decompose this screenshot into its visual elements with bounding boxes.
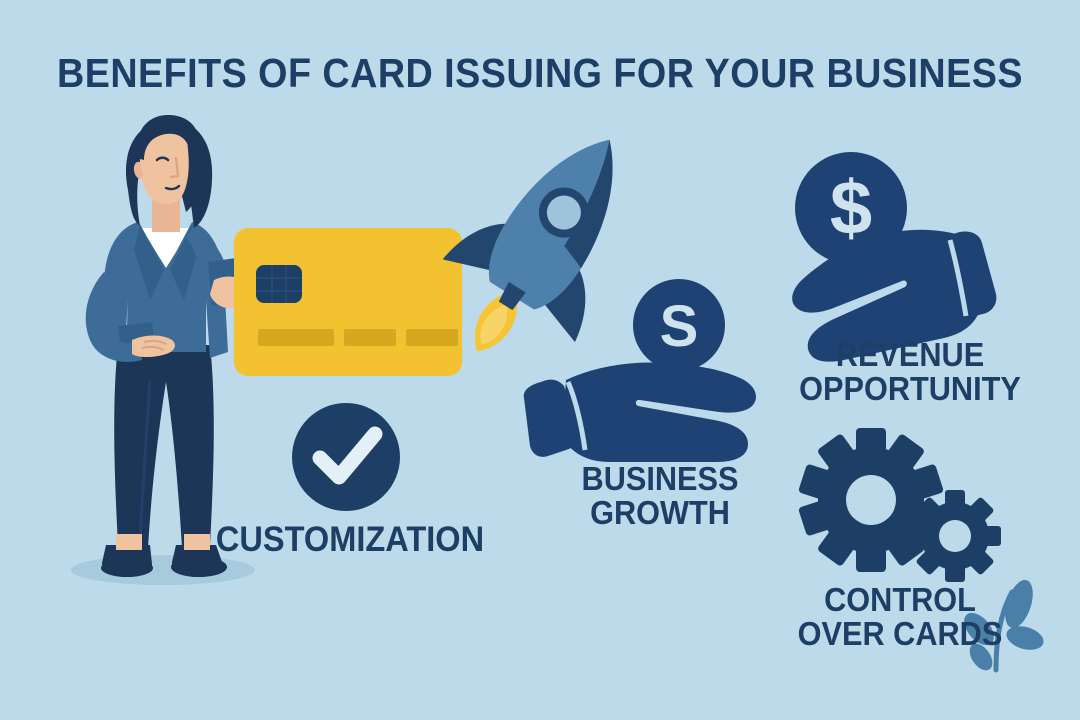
benefit-label-revenue-opportunity: REVENUE OPPORTUNITY <box>771 338 1050 405</box>
floor-shadow <box>71 555 255 585</box>
credit-card-illustration <box>234 228 462 376</box>
woman-trouser-crease <box>140 380 150 542</box>
rocket-flame <box>463 282 529 361</box>
rocket-flame-inner <box>473 299 515 350</box>
rocket-porthole-ring <box>529 178 598 247</box>
woman-hair-front <box>136 115 200 160</box>
gear-large-hole <box>846 475 896 525</box>
benefit-label-customization: CUSTOMIZATION <box>164 522 536 558</box>
woman-shoe-left <box>102 545 152 577</box>
rocket-body <box>475 116 647 319</box>
woman-forearm-right <box>208 258 242 306</box>
rocket-illustration <box>411 98 676 393</box>
benefit-label-line1: REVENUE <box>771 338 1050 372</box>
woman-nose <box>171 158 178 177</box>
hand-holding-dollar-coin-icon: $ <box>792 152 996 362</box>
page-title: BENEFITS OF CARD ISSUING FOR YOUR BUSINE… <box>43 50 1037 97</box>
woman-hand-right <box>210 277 248 309</box>
woman-ear <box>134 162 143 179</box>
benefit-label-line2: OVER CARDS <box>770 617 1030 651</box>
woman-blazer-pocket <box>118 322 154 344</box>
woman-ankle-left <box>116 534 142 550</box>
woman-arm-left <box>86 272 142 362</box>
woman-blazer <box>100 222 228 358</box>
woman-face <box>140 122 193 204</box>
benefit-label-line2: GROWTH <box>530 496 790 530</box>
coin-small <box>633 279 725 371</box>
benefit-label-line1: CONTROL <box>770 583 1030 617</box>
hand-cuff-gap-right <box>950 240 966 316</box>
gear-small-hole <box>939 520 971 552</box>
coin-large-symbol: $ <box>830 166 872 251</box>
hand-cuff-gap <box>568 382 585 450</box>
businesswoman-illustration <box>86 115 249 577</box>
credit-card-chip-lines <box>256 265 302 303</box>
woman-shirt <box>140 228 194 350</box>
benefit-label-line2: OPPORTUNITY <box>771 372 1050 406</box>
rocket-fin-right <box>534 257 612 342</box>
credit-card-number-1 <box>258 329 334 346</box>
woman-mouth <box>166 186 179 189</box>
benefit-label-business-growth: BUSINESS GROWTH <box>530 462 790 529</box>
check-mark <box>320 434 375 477</box>
credit-card-body <box>234 228 462 376</box>
rocket-nozzle <box>497 282 526 311</box>
woman-trousers <box>114 345 214 548</box>
gears-icon <box>798 428 1001 582</box>
rocket-nose-cone <box>544 140 647 268</box>
hand-palm-right <box>562 363 756 462</box>
rocket-fin-left <box>443 200 521 285</box>
hand-cuff-left <box>524 380 579 457</box>
woman-hair-sweep <box>182 124 202 212</box>
credit-card-chip <box>256 265 302 303</box>
woman-neck <box>152 198 180 232</box>
infographic-canvas: BENEFITS OF CARD ISSUING FOR YOUR BUSINE… <box>0 0 1080 720</box>
woman-hair-back <box>126 120 212 228</box>
woman-arm-right <box>186 228 234 306</box>
woman-lapel-right <box>170 224 198 300</box>
woman-hand-left <box>132 336 175 358</box>
gear-large <box>798 428 944 572</box>
credit-card-number-3 <box>406 329 458 346</box>
rocket-porthole-glass <box>540 189 587 236</box>
hand-holding-coin-icon: S <box>524 279 756 462</box>
gear-small <box>909 490 1001 582</box>
check-circle-icon <box>292 403 400 511</box>
coin-small-symbol: S <box>660 294 699 359</box>
coin-large <box>795 152 907 264</box>
credit-card-number-2 <box>344 329 396 346</box>
benefit-label-control-over-cards: CONTROL OVER CARDS <box>770 583 1030 650</box>
hand-cuff-right <box>938 231 997 318</box>
benefit-label-line1: BUSINESS <box>530 462 790 496</box>
woman-eye <box>157 158 168 160</box>
woman-lapel-left <box>134 224 164 300</box>
